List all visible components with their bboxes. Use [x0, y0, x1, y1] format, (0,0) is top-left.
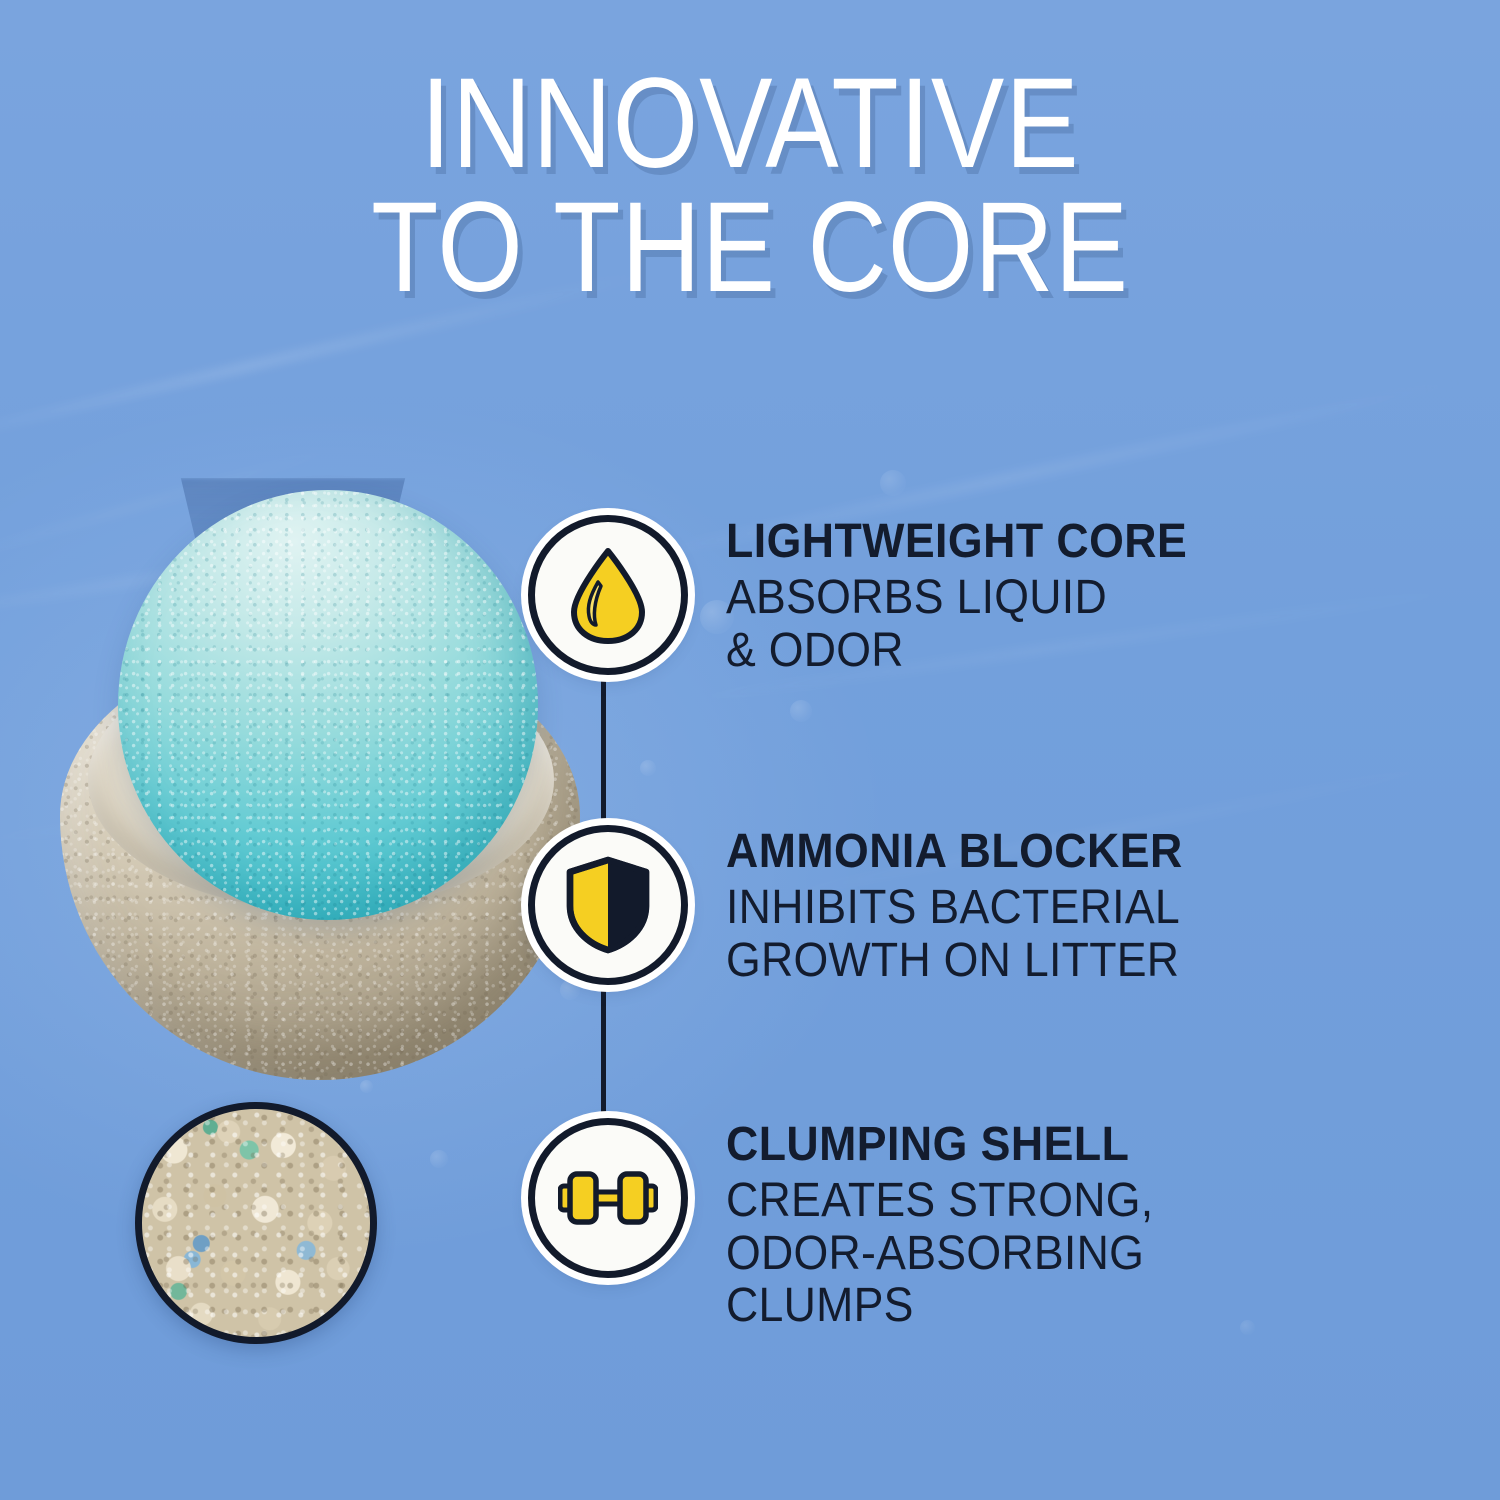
litter-granules-closeup: [135, 1102, 377, 1344]
promo-canvas: INNOVATIVE TO THE CORE LIGHTWEIGHT CORE …: [0, 0, 1500, 1500]
bokeh-dot: [1240, 1320, 1255, 1335]
feature-text-block: LIGHTWEIGHT CORE ABSORBS LIQUID & ODOR: [726, 515, 1222, 677]
feature-description: ABSORBS LIQUID & ODOR: [726, 572, 1187, 678]
bokeh-dot: [430, 1150, 448, 1168]
droplet-icon: [528, 515, 688, 675]
bokeh-dot: [790, 700, 812, 722]
feature-description: CREATES STRONG, ODOR-ABSORBING CLUMPS: [726, 1175, 1153, 1333]
lightweight-core-dome: [118, 490, 538, 920]
feature-title: AMMONIA BLOCKER: [726, 827, 1183, 878]
feature-title: CLUMPING SHELL: [726, 1120, 1153, 1171]
title-line-1: INNOVATIVE: [421, 52, 1080, 195]
feature-item-ammonia-blocker: AMMONIA BLOCKER INHIBITS BACTERIAL GROWT…: [528, 825, 1217, 987]
feature-description: INHIBITS BACTERIAL GROWTH ON LITTER: [726, 882, 1183, 988]
feature-title: LIGHTWEIGHT CORE: [726, 517, 1187, 568]
page-title: INNOVATIVE TO THE CORE: [105, 62, 1395, 310]
shield-icon: [528, 825, 688, 985]
feature-text-block: AMMONIA BLOCKER INHIBITS BACTERIAL GROWT…: [726, 825, 1217, 987]
feature-item-clumping-shell: CLUMPING SHELL CREATES STRONG, ODOR-ABSO…: [528, 1118, 1186, 1333]
title-line-2: TO THE CORE: [105, 186, 1395, 310]
feature-text-block: CLUMPING SHELL CREATES STRONG, ODOR-ABSO…: [726, 1118, 1186, 1333]
bokeh-dot: [880, 470, 906, 496]
product-cutaway-image: [40, 500, 600, 1120]
bokeh-dot: [640, 760, 656, 776]
dumbbell-icon: [528, 1118, 688, 1278]
feature-item-lightweight-core: LIGHTWEIGHT CORE ABSORBS LIQUID & ODOR: [528, 515, 1222, 677]
